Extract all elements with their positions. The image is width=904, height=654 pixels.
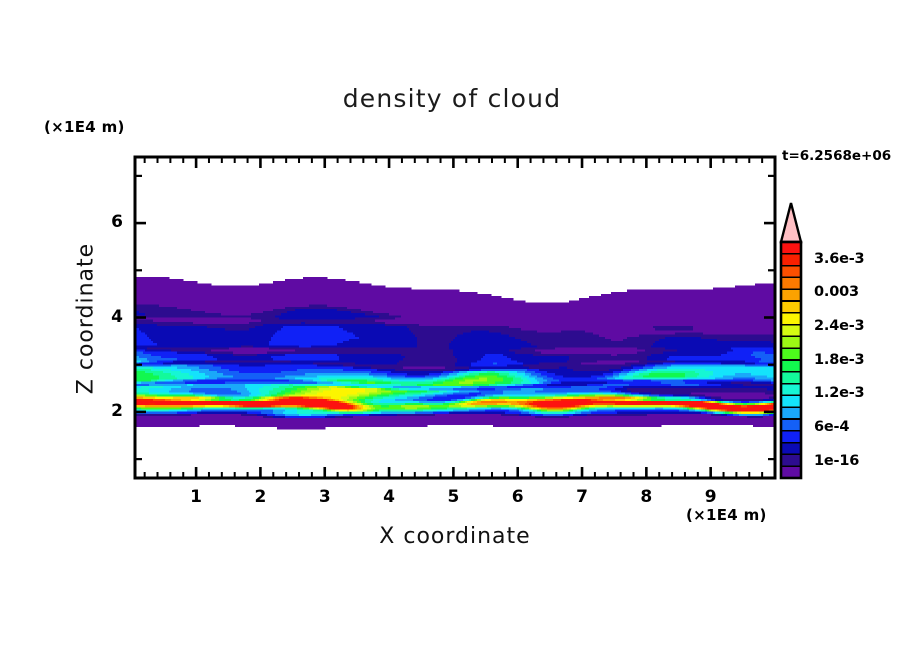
colorbar-tick-label-1: 0.003: [814, 284, 859, 300]
contour-plot: [0, 0, 904, 654]
x-tick-label-2: 2: [230, 487, 290, 507]
colorbar-tick-label-6: 1e-16: [814, 453, 859, 469]
x-tick-label-9: 9: [681, 487, 741, 507]
y-tick-label-2: 2: [91, 401, 123, 421]
y-tick-label-4: 4: [91, 307, 123, 327]
x-tick-label-5: 5: [423, 487, 483, 507]
colorbar-tick-label-4: 1.2e-3: [814, 385, 864, 401]
colorbar-tick-label-0: 3.6e-3: [814, 251, 864, 267]
figure-canvas: density of cloud (×1E4 m) (×1E4 m) X coo…: [0, 0, 904, 654]
x-tick-label-6: 6: [488, 487, 548, 507]
colorbar-tick-label-3: 1.8e-3: [814, 352, 864, 368]
colorbar-tick-label-2: 2.4e-3: [814, 318, 864, 334]
x-tick-label-8: 8: [616, 487, 676, 507]
colorbar-tick-label-5: 6e-4: [814, 419, 849, 435]
x-tick-label-1: 1: [166, 487, 226, 507]
x-tick-label-4: 4: [359, 487, 419, 507]
y-tick-label-6: 6: [91, 212, 123, 232]
x-tick-label-7: 7: [552, 487, 612, 507]
x-tick-label-3: 3: [295, 487, 355, 507]
